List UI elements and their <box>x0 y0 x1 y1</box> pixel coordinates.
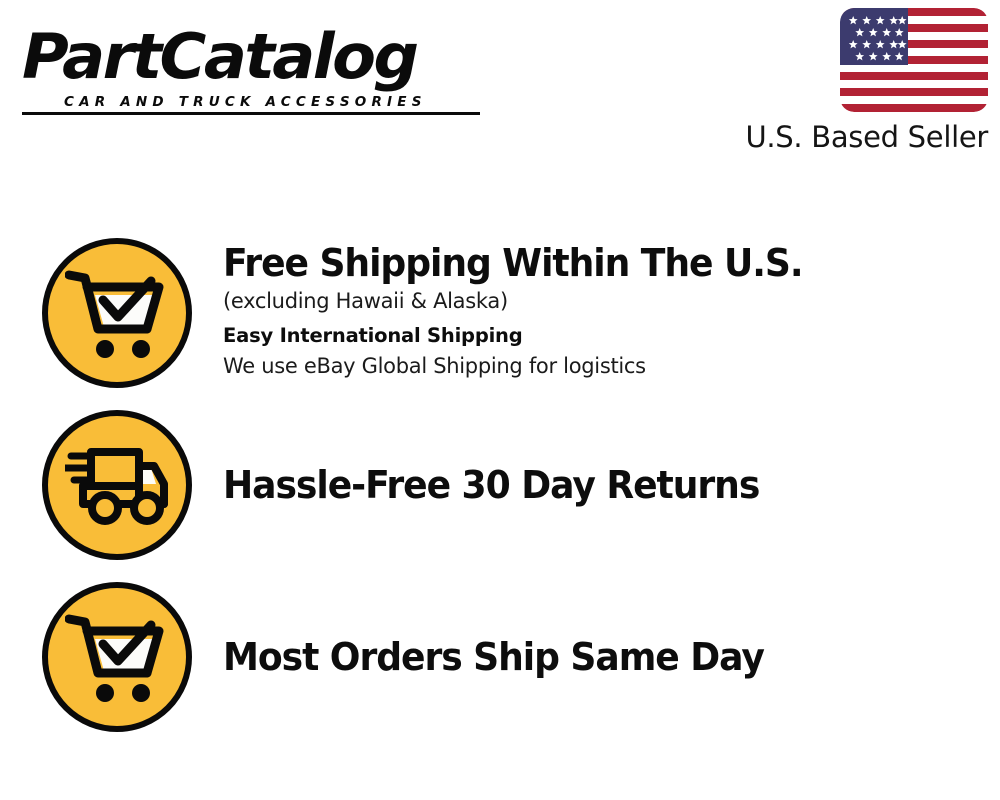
brand-tagline: CAR AND TRUCK ACCESSORIES <box>64 94 492 110</box>
shopping-cart-check-icon <box>42 238 192 388</box>
feature-row-same-day-ship: Most Orders Ship Same Day <box>0 582 1000 732</box>
feature-text-block: Free Shipping Within The U.S. (excluding… <box>192 238 1000 381</box>
page-header: PartCatalog CAR AND TRUCK ACCESSORIES <box>0 0 1000 170</box>
us-based-seller-label: U.S. Based Seller <box>718 120 988 154</box>
brand-wordmark: PartCatalog <box>22 22 506 92</box>
feature-row-free-shipping: Free Shipping Within The U.S. (excluding… <box>0 238 1000 388</box>
shopping-cart-check-icon <box>42 582 192 732</box>
feature-title: Most Orders Ship Same Day <box>223 634 961 680</box>
brand-underline-rule <box>22 112 480 115</box>
us-flag-icon <box>840 8 988 112</box>
feature-text-block: Hassle-Free 30 Day Returns <box>192 410 1000 508</box>
feature-title: Free Shipping Within The U.S. <box>223 240 961 286</box>
feature-sub-heading: Easy International Shipping <box>223 321 1000 351</box>
us-based-seller-badge: U.S. Based Seller <box>718 8 988 154</box>
feature-text-block: Most Orders Ship Same Day <box>192 582 1000 680</box>
feature-sub-detail: We use eBay Global Shipping for logistic… <box>223 351 1000 381</box>
feature-row-returns: Hassle-Free 30 Day Returns <box>0 410 1000 560</box>
feature-title: Hassle-Free 30 Day Returns <box>223 462 961 508</box>
brand-logo[interactable]: PartCatalog CAR AND TRUCK ACCESSORIES <box>22 22 492 117</box>
feature-subnote: (excluding Hawaii & Alaska) <box>223 286 1000 316</box>
delivery-truck-icon <box>42 410 192 560</box>
